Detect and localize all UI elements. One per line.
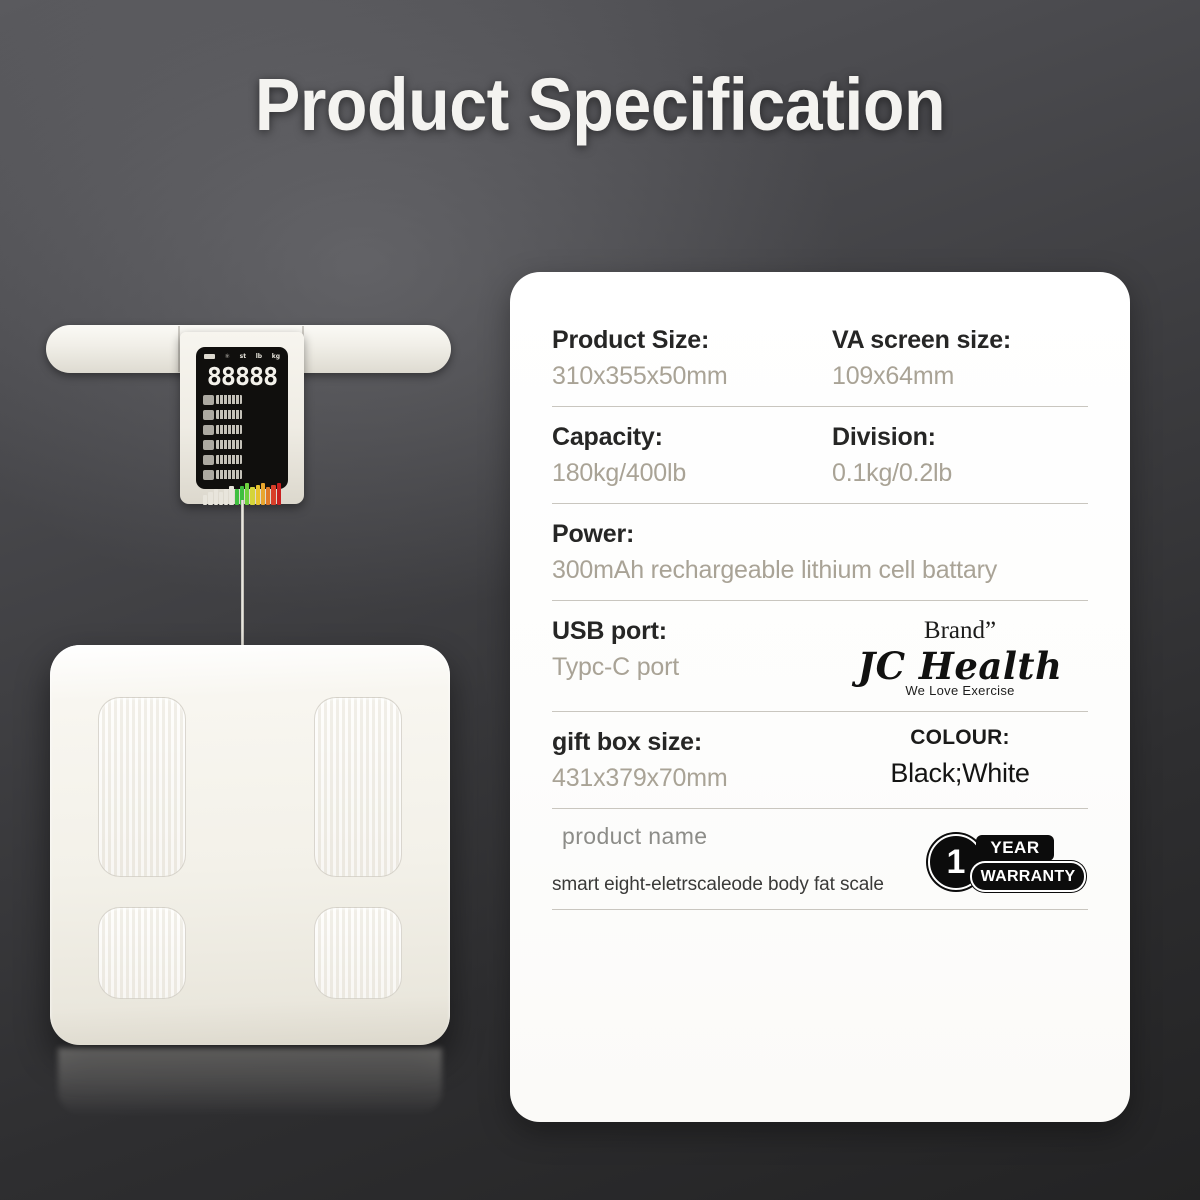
product-name-label: product name xyxy=(552,823,928,850)
spec-cell-division: Division: 0.1kg/0.2lb xyxy=(820,421,1088,490)
battery-icon xyxy=(204,354,215,359)
unit-lb-indicator: lb xyxy=(256,352,262,361)
spec-cell-capacity: Capacity: 180kg/400lb xyxy=(552,421,820,490)
usb-port-value: Typc-C port xyxy=(552,651,820,684)
spec-cell-product-size: Product Size: 310x355x50mm xyxy=(552,324,820,393)
metric-body-fat xyxy=(203,393,242,406)
division-label: Division: xyxy=(832,421,1088,453)
gauge-bar xyxy=(214,489,218,505)
metric-bone xyxy=(203,453,242,466)
spec-row-product-size: Product Size: 310x355x50mm VA screen siz… xyxy=(552,324,1088,407)
gauge-bar xyxy=(245,483,249,505)
product-image: ⚛ st lb kg 88888 xyxy=(30,300,480,1130)
bmi-value xyxy=(216,470,242,479)
colour-label: COLOUR: xyxy=(832,726,1088,750)
electrode-pad-bottom-right xyxy=(314,907,402,999)
capacity-value: 180kg/400lb xyxy=(552,457,820,490)
warranty-unit: YEAR xyxy=(976,835,1054,861)
brand-word-label: Brand” xyxy=(832,617,1088,645)
gauge-bar xyxy=(256,485,260,505)
gauge-bar xyxy=(219,492,223,505)
product-size-value: 310x355x50mm xyxy=(552,360,820,393)
gauge-bar xyxy=(229,486,233,505)
gauge-bar xyxy=(250,487,254,505)
colour-value: Black;White xyxy=(832,758,1088,789)
spec-row-capacity: Capacity: 180kg/400lb Division: 0.1kg/0.… xyxy=(552,421,1088,504)
water-value xyxy=(216,425,242,434)
usb-port-label: USB port: xyxy=(552,615,820,647)
unit-st-indicator: st xyxy=(240,352,246,361)
visceral-icon xyxy=(203,440,214,450)
brand-logo: Brand” JC Health We Love Exercise xyxy=(820,615,1088,698)
spec-row-giftbox-colour: gift box size: 431x379x70mm COLOUR: Blac… xyxy=(552,726,1088,809)
power-label: Power: xyxy=(552,518,1088,550)
unit-kg-indicator: kg xyxy=(272,352,280,361)
spec-cell-gift-box-size: gift box size: 431x379x70mm xyxy=(552,726,820,795)
electrode-pad-top-right xyxy=(314,697,402,877)
metric-bmi xyxy=(203,468,242,481)
warranty-text: WARRANTY xyxy=(972,863,1084,890)
spec-cell-va-screen-size: VA screen size: 109x64mm xyxy=(820,324,1088,393)
gauge-bar xyxy=(203,495,207,505)
specification-card: Product Size: 310x355x50mm VA screen siz… xyxy=(510,272,1130,1122)
spec-row-power: Power: 300mAh rechargeable lithium cell … xyxy=(552,518,1088,601)
spec-cell-usb-port: USB port: Typc-C port xyxy=(552,615,820,698)
display-housing: ⚛ st lb kg 88888 xyxy=(180,332,304,504)
gauge-bar xyxy=(208,492,212,505)
lcd-screen: ⚛ st lb kg 88888 xyxy=(196,347,288,489)
electrode-pad-top-left xyxy=(98,697,186,877)
product-size-label: Product Size: xyxy=(552,324,820,356)
lcd-metrics-grid xyxy=(202,392,282,481)
page-title: Product Specification xyxy=(48,62,1152,147)
bluetooth-icon: ⚛ xyxy=(225,352,230,361)
body-fat-value xyxy=(216,395,242,404)
scale-cable xyxy=(241,500,244,652)
gauge-bar xyxy=(261,483,265,505)
product-specification-page: Product Specification ⚛ st lb kg 88888 xyxy=(0,0,1200,1200)
brand-name: JC Health xyxy=(832,647,1088,686)
division-value: 0.1kg/0.2lb xyxy=(832,457,1088,490)
water-icon xyxy=(203,425,214,435)
gauge-bar xyxy=(224,489,228,505)
bone-value xyxy=(216,455,242,464)
lcd-indicator-row: ⚛ st lb kg xyxy=(202,352,282,361)
spec-cell-colour: COLOUR: Black;White xyxy=(820,726,1088,795)
muscle-icon xyxy=(203,410,214,420)
spec-row-product-name: product name smart eight-eletrscaleode b… xyxy=(552,823,1088,910)
gauge-bar xyxy=(235,489,239,505)
body-fat-icon xyxy=(203,395,214,405)
lcd-weight-digits: 88888 xyxy=(202,364,282,389)
bone-icon xyxy=(203,455,214,465)
platform-reflection xyxy=(58,1048,442,1116)
gauge-bar xyxy=(266,487,270,505)
va-screen-size-value: 109x64mm xyxy=(832,360,1088,393)
power-value: 300mAh rechargeable lithium cell battary xyxy=(552,554,1088,587)
product-name-block: product name smart eight-eletrscaleode b… xyxy=(552,823,928,896)
product-name-value: smart eight-eletrscaleode body fat scale xyxy=(552,874,928,896)
spec-row-usb-brand: USB port: Typc-C port Brand” JC Health W… xyxy=(552,615,1088,712)
metric-visceral xyxy=(203,438,242,451)
metric-muscle xyxy=(203,408,242,421)
metric-water xyxy=(203,423,242,436)
gift-box-size-value: 431x379x70mm xyxy=(552,762,820,795)
gauge-bar xyxy=(277,483,281,505)
electrode-pad-bottom-left xyxy=(98,907,186,999)
visceral-value xyxy=(216,440,242,449)
bmi-icon xyxy=(203,470,214,480)
gift-box-size-label: gift box size: xyxy=(552,726,820,758)
scale-platform xyxy=(50,645,450,1045)
va-screen-size-label: VA screen size: xyxy=(832,324,1088,356)
muscle-value xyxy=(216,410,242,419)
warranty-badge: 1 YEAR WARRANTY xyxy=(928,830,1088,894)
capacity-label: Capacity: xyxy=(552,421,820,453)
gauge-bar xyxy=(271,485,275,505)
